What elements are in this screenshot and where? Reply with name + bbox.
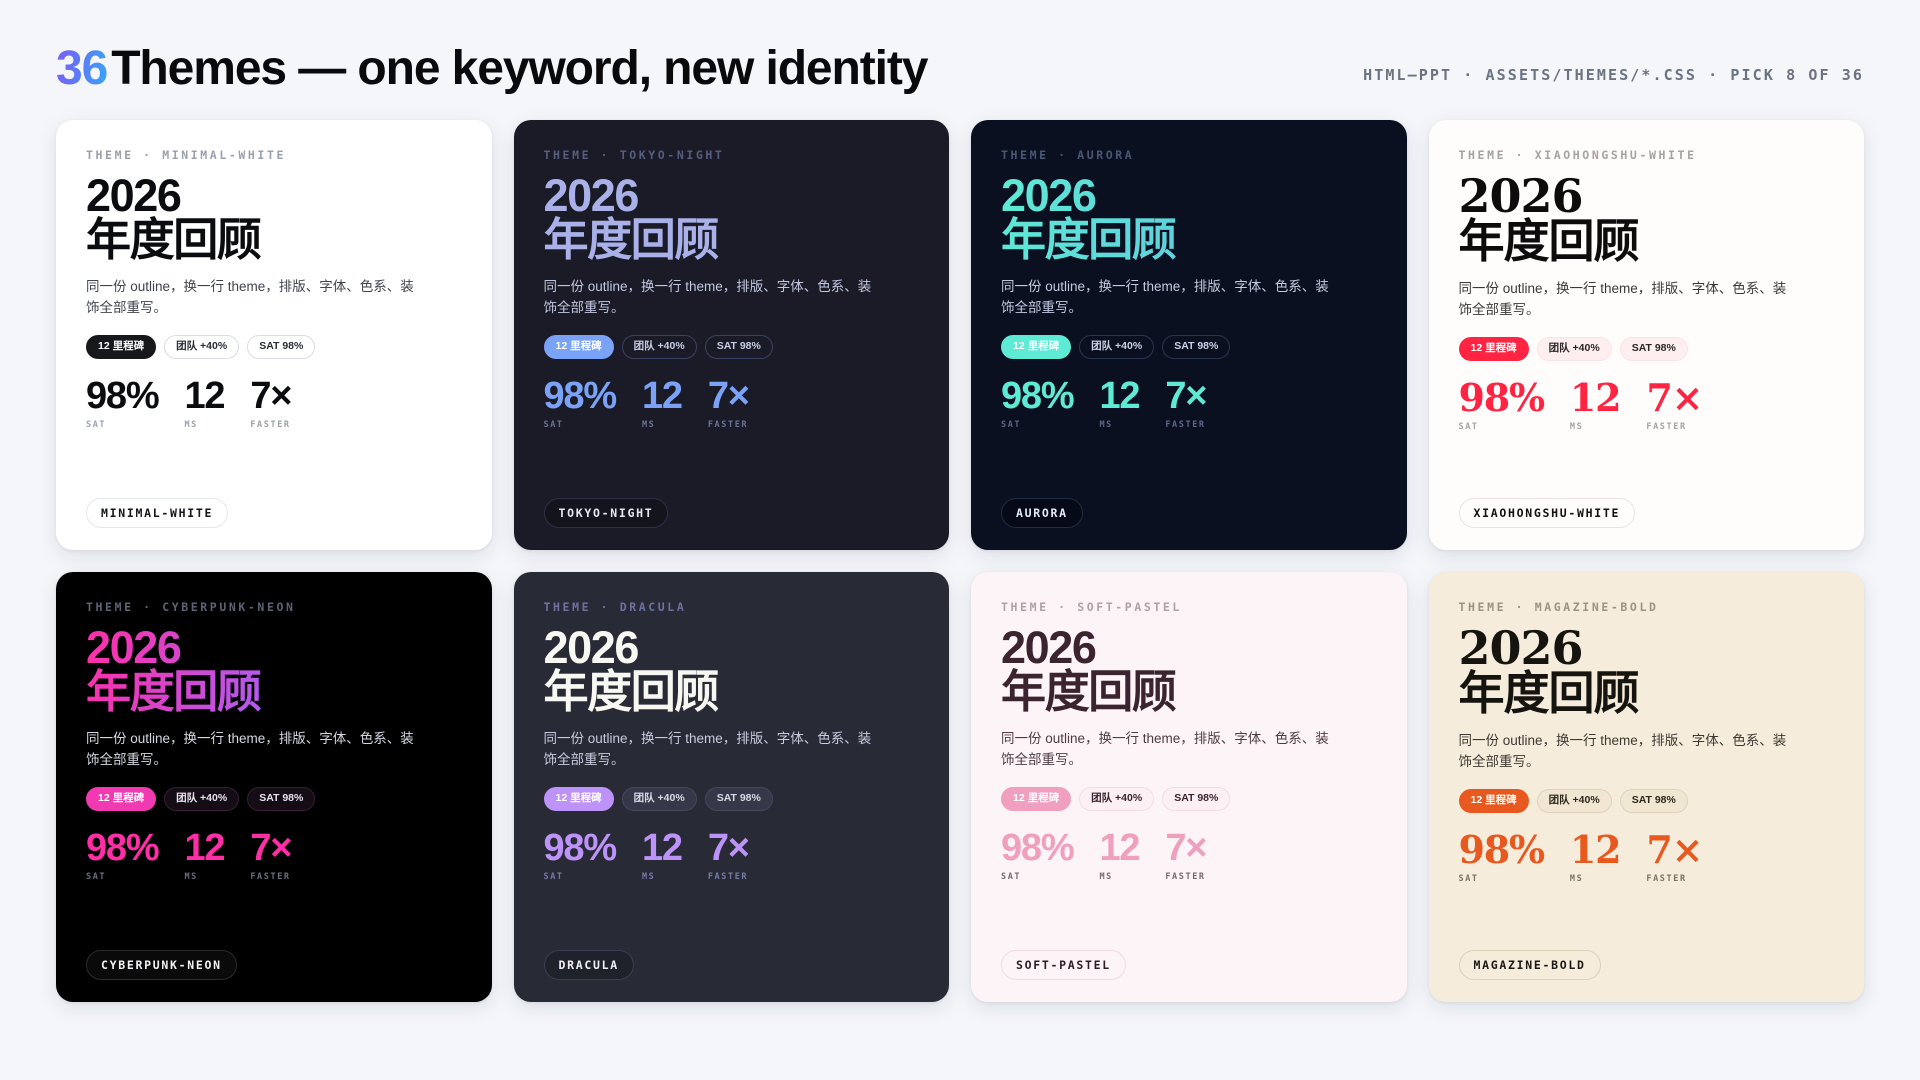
stat-value: 7×	[1165, 829, 1206, 867]
stat-label: FASTER	[708, 420, 749, 430]
stat-item-ms: 12MS	[1099, 377, 1139, 430]
chip-2[interactable]: SAT 98%	[1162, 787, 1230, 812]
chip-2[interactable]: SAT 98%	[1620, 789, 1688, 814]
stat-label: MS	[642, 420, 682, 430]
chip-1[interactable]: 团队 +40%	[1537, 789, 1612, 814]
stat-label: SAT	[1459, 874, 1544, 884]
stat-value: 98%	[1459, 831, 1544, 869]
card-footer: AURORA	[1001, 498, 1377, 528]
stat-item-ms: 12MS	[1570, 379, 1620, 432]
stat-value: 7×	[250, 829, 291, 867]
stat-value: 12	[642, 829, 682, 867]
stat-label: FASTER	[1646, 874, 1702, 884]
stat-value: 98%	[1459, 379, 1544, 417]
theme-card-xiaohongshu-white[interactable]: THEME · XIAOHONGSHU-WHITE2026年度回顾同一份 out…	[1429, 120, 1865, 550]
theme-card-tokyo-night[interactable]: THEME · TOKYO-NIGHT2026年度回顾同一份 outline，换…	[514, 120, 950, 550]
stat-item-faster: 7×FASTER	[250, 377, 291, 430]
chip-row: 12 里程碑团队 +40%SAT 98%	[544, 335, 920, 360]
stat-item-faster: 7×FASTER	[1165, 377, 1206, 430]
headline-year: 2026	[1001, 626, 1377, 669]
card-eyebrow: THEME · TOKYO-NIGHT	[544, 148, 920, 162]
chip-row: 12 里程碑团队 +40%SAT 98%	[1459, 337, 1835, 362]
stat-label: SAT	[86, 872, 158, 882]
stat-value: 7×	[250, 377, 291, 415]
chip-0[interactable]: 12 里程碑	[1001, 335, 1071, 360]
card-description: 同一份 outline，换一行 theme，排版、字体、色系、装饰全部重写。	[544, 729, 874, 771]
stat-item-sat: 98%SAT	[86, 829, 158, 882]
card-eyebrow: THEME · XIAOHONGSHU-WHITE	[1459, 148, 1835, 162]
stat-label: FASTER	[1165, 872, 1206, 882]
stat-value: 12	[642, 377, 682, 415]
stat-item-sat: 98%SAT	[544, 829, 616, 882]
theme-count: 36	[56, 42, 107, 95]
card-description: 同一份 outline，换一行 theme，排版、字体、色系、装饰全部重写。	[1001, 277, 1331, 319]
theme-name-badge[interactable]: CYBERPUNK-NEON	[86, 950, 237, 980]
card-description: 同一份 outline，换一行 theme，排版、字体、色系、装饰全部重写。	[86, 277, 416, 319]
chip-row: 12 里程碑团队 +40%SAT 98%	[86, 787, 462, 812]
card-footer: DRACULA	[544, 950, 920, 980]
headline-cn: 年度回顾	[86, 218, 462, 261]
stat-row: 98%SAT12MS7×FASTER	[86, 377, 462, 430]
stat-value: 12	[1099, 377, 1139, 415]
chip-0[interactable]: 12 里程碑	[86, 335, 156, 360]
chip-2[interactable]: SAT 98%	[247, 335, 315, 360]
card-description: 同一份 outline，换一行 theme，排版、字体、色系、装饰全部重写。	[1001, 729, 1331, 771]
theme-card-dracula[interactable]: THEME · DRACULA2026年度回顾同一份 outline，换一行 t…	[514, 572, 950, 1002]
stat-label: SAT	[86, 420, 158, 430]
chip-2[interactable]: SAT 98%	[247, 787, 315, 812]
chip-2[interactable]: SAT 98%	[705, 335, 773, 360]
theme-name-badge[interactable]: AURORA	[1001, 498, 1083, 528]
theme-card-aurora[interactable]: THEME · AURORA2026年度回顾同一份 outline，换一行 th…	[971, 120, 1407, 550]
card-eyebrow: THEME · CYBERPUNK-NEON	[86, 600, 462, 614]
stat-row: 98%SAT12MS7×FASTER	[1459, 379, 1835, 432]
stat-value: 12	[184, 829, 224, 867]
stat-item-faster: 7×FASTER	[708, 377, 749, 430]
card-headline: 2026年度回顾	[1001, 626, 1377, 712]
theme-name-badge[interactable]: XIAOHONGSHU-WHITE	[1459, 498, 1636, 528]
stat-item-faster: 7×FASTER	[1165, 829, 1206, 882]
stat-label: FASTER	[1165, 420, 1206, 430]
theme-card-minimal-white[interactable]: THEME · MINIMAL-WHITE2026年度回顾同一份 outline…	[56, 120, 492, 550]
stat-value: 98%	[86, 829, 158, 867]
stat-label: FASTER	[708, 872, 749, 882]
chip-0[interactable]: 12 里程碑	[544, 335, 614, 360]
stat-label: MS	[1570, 422, 1620, 432]
card-footer: CYBERPUNK-NEON	[86, 950, 462, 980]
stat-label: MS	[642, 872, 682, 882]
theme-card-soft-pastel[interactable]: THEME · SOFT-PASTEL2026年度回顾同一份 outline，换…	[971, 572, 1407, 1002]
stat-row: 98%SAT12MS7×FASTER	[1459, 831, 1835, 884]
chip-1[interactable]: 团队 +40%	[164, 335, 239, 360]
stat-item-sat: 98%SAT	[86, 377, 158, 430]
chip-1[interactable]: 团队 +40%	[1537, 337, 1612, 362]
stat-value: 7×	[1165, 377, 1206, 415]
card-footer: SOFT-PASTEL	[1001, 950, 1377, 980]
stat-value: 12	[1099, 829, 1139, 867]
stat-value: 12	[1570, 831, 1620, 869]
stat-value: 7×	[708, 377, 749, 415]
stat-item-ms: 12MS	[184, 829, 224, 882]
chip-1[interactable]: 团队 +40%	[622, 335, 697, 360]
card-eyebrow: THEME · AURORA	[1001, 148, 1377, 162]
card-headline: 2026年度回顾	[1459, 174, 1835, 262]
stat-value: 98%	[1001, 377, 1073, 415]
chip-row: 12 里程碑团队 +40%SAT 98%	[1459, 789, 1835, 814]
headline-cn: 年度回顾	[544, 670, 920, 713]
stat-label: SAT	[1001, 872, 1073, 882]
stat-row: 98%SAT12MS7×FASTER	[1001, 829, 1377, 882]
card-footer: TOKYO-NIGHT	[544, 498, 920, 528]
stat-label: FASTER	[250, 420, 291, 430]
chip-0[interactable]: 12 里程碑	[1001, 787, 1071, 812]
stat-item-sat: 98%SAT	[544, 377, 616, 430]
chip-0[interactable]: 12 里程碑	[1459, 337, 1529, 362]
stat-row: 98%SAT12MS7×FASTER	[86, 829, 462, 882]
chip-row: 12 里程碑团队 +40%SAT 98%	[544, 787, 920, 812]
card-headline: 2026年度回顾	[86, 174, 462, 260]
stat-value: 98%	[1001, 829, 1073, 867]
card-eyebrow: THEME · SOFT-PASTEL	[1001, 600, 1377, 614]
headline-cn: 年度回顾	[1001, 670, 1377, 713]
theme-name-badge[interactable]: TOKYO-NIGHT	[544, 498, 669, 528]
stat-label: MS	[184, 420, 224, 430]
headline-cn: 年度回顾	[544, 218, 920, 261]
stat-label: SAT	[544, 872, 616, 882]
stat-row: 98%SAT12MS7×FASTER	[544, 377, 920, 430]
header-meta: HTML—PPT · ASSETS/THEMES/*.CSS · PICK 8 …	[1363, 66, 1864, 84]
stat-value: 12	[184, 377, 224, 415]
card-eyebrow: THEME · MAGAZINE-BOLD	[1459, 600, 1835, 614]
chip-2[interactable]: SAT 98%	[1620, 337, 1688, 362]
stat-label: SAT	[1001, 420, 1073, 430]
chip-row: 12 里程碑团队 +40%SAT 98%	[1001, 787, 1377, 812]
card-headline: 2026年度回顾	[86, 626, 462, 712]
headline-year: 2026	[544, 174, 920, 217]
chip-0[interactable]: 12 里程碑	[544, 787, 614, 812]
stat-item-sat: 98%SAT	[1001, 829, 1073, 882]
headline-cn: 年度回顾	[1459, 671, 1835, 715]
stat-value: 7×	[1646, 831, 1702, 869]
chip-0[interactable]: 12 里程碑	[1459, 789, 1529, 814]
stat-label: SAT	[544, 420, 616, 430]
stat-row: 98%SAT12MS7×FASTER	[544, 829, 920, 882]
card-headline: 2026年度回顾	[1459, 626, 1835, 714]
headline-cn: 年度回顾	[1459, 219, 1835, 263]
stat-label: MS	[184, 872, 224, 882]
headline-cn: 年度回顾	[1001, 218, 1377, 261]
stat-label: SAT	[1459, 422, 1544, 432]
card-eyebrow: THEME · MINIMAL-WHITE	[86, 148, 462, 162]
chip-1[interactable]: 团队 +40%	[622, 787, 697, 812]
page-header: 36Themes — one keyword, new identity HTM…	[0, 0, 1920, 94]
headline-year: 2026	[1459, 626, 1835, 670]
stat-item-sat: 98%SAT	[1001, 377, 1073, 430]
stat-item-faster: 7×FASTER	[708, 829, 749, 882]
card-description: 同一份 outline，换一行 theme，排版、字体、色系、装饰全部重写。	[544, 277, 874, 319]
stat-item-faster: 7×FASTER	[1646, 831, 1702, 884]
theme-card-magazine-bold[interactable]: THEME · MAGAZINE-BOLD2026年度回顾同一份 outline…	[1429, 572, 1865, 1002]
stat-label: MS	[1570, 874, 1620, 884]
stat-value: 12	[1570, 379, 1620, 417]
card-footer: MAGAZINE-BOLD	[1459, 950, 1835, 980]
chip-1[interactable]: 团队 +40%	[1079, 787, 1154, 812]
stat-label: FASTER	[1646, 422, 1702, 432]
page-title-rest: Themes — one keyword, new identity	[111, 42, 927, 95]
chip-2[interactable]: SAT 98%	[1162, 335, 1230, 360]
stat-item-faster: 7×FASTER	[1646, 379, 1702, 432]
stat-item-ms: 12MS	[642, 829, 682, 882]
card-footer: MINIMAL-WHITE	[86, 498, 462, 528]
stat-row: 98%SAT12MS7×FASTER	[1001, 377, 1377, 430]
stat-item-sat: 98%SAT	[1459, 379, 1544, 432]
card-description: 同一份 outline，换一行 theme，排版、字体、色系、装饰全部重写。	[1459, 279, 1789, 321]
theme-name-badge[interactable]: DRACULA	[544, 950, 634, 980]
headline-year: 2026	[86, 174, 462, 217]
card-description: 同一份 outline，换一行 theme，排版、字体、色系、装饰全部重写。	[86, 729, 416, 771]
stat-value: 98%	[544, 829, 616, 867]
stat-item-ms: 12MS	[1099, 829, 1139, 882]
page-title: 36Themes — one keyword, new identity	[56, 44, 927, 94]
stat-item-faster: 7×FASTER	[250, 829, 291, 882]
stat-item-sat: 98%SAT	[1459, 831, 1544, 884]
card-headline: 2026年度回顾	[544, 626, 920, 712]
headline-year: 2026	[86, 626, 462, 669]
stat-value: 98%	[86, 377, 158, 415]
chip-1[interactable]: 团队 +40%	[164, 787, 239, 812]
theme-grid: THEME · MINIMAL-WHITE2026年度回顾同一份 outline…	[0, 120, 1920, 1002]
card-headline: 2026年度回顾	[544, 174, 920, 260]
theme-name-badge[interactable]: SOFT-PASTEL	[1001, 950, 1126, 980]
chip-0[interactable]: 12 里程碑	[86, 787, 156, 812]
stat-item-ms: 12MS	[184, 377, 224, 430]
card-description: 同一份 outline，换一行 theme，排版、字体、色系、装饰全部重写。	[1459, 731, 1789, 773]
card-headline: 2026年度回顾	[1001, 174, 1377, 260]
theme-name-badge[interactable]: MINIMAL-WHITE	[86, 498, 228, 528]
stat-label: MS	[1099, 872, 1139, 882]
chip-2[interactable]: SAT 98%	[705, 787, 773, 812]
chip-1[interactable]: 团队 +40%	[1079, 335, 1154, 360]
headline-cn: 年度回顾	[86, 670, 462, 713]
headline-year: 2026	[544, 626, 920, 669]
stat-label: FASTER	[250, 872, 291, 882]
stat-item-ms: 12MS	[1570, 831, 1620, 884]
chip-row: 12 里程碑团队 +40%SAT 98%	[86, 335, 462, 360]
stat-value: 98%	[544, 377, 616, 415]
stat-item-ms: 12MS	[642, 377, 682, 430]
headline-year: 2026	[1001, 174, 1377, 217]
stat-value: 7×	[1646, 379, 1702, 417]
theme-card-cyberpunk-neon[interactable]: THEME · CYBERPUNK-NEON2026年度回顾同一份 outlin…	[56, 572, 492, 1002]
stat-value: 7×	[708, 829, 749, 867]
card-eyebrow: THEME · DRACULA	[544, 600, 920, 614]
stat-label: MS	[1099, 420, 1139, 430]
headline-year: 2026	[1459, 174, 1835, 218]
card-footer: XIAOHONGSHU-WHITE	[1459, 498, 1835, 528]
chip-row: 12 里程碑团队 +40%SAT 98%	[1001, 335, 1377, 360]
theme-name-badge[interactable]: MAGAZINE-BOLD	[1459, 950, 1601, 980]
